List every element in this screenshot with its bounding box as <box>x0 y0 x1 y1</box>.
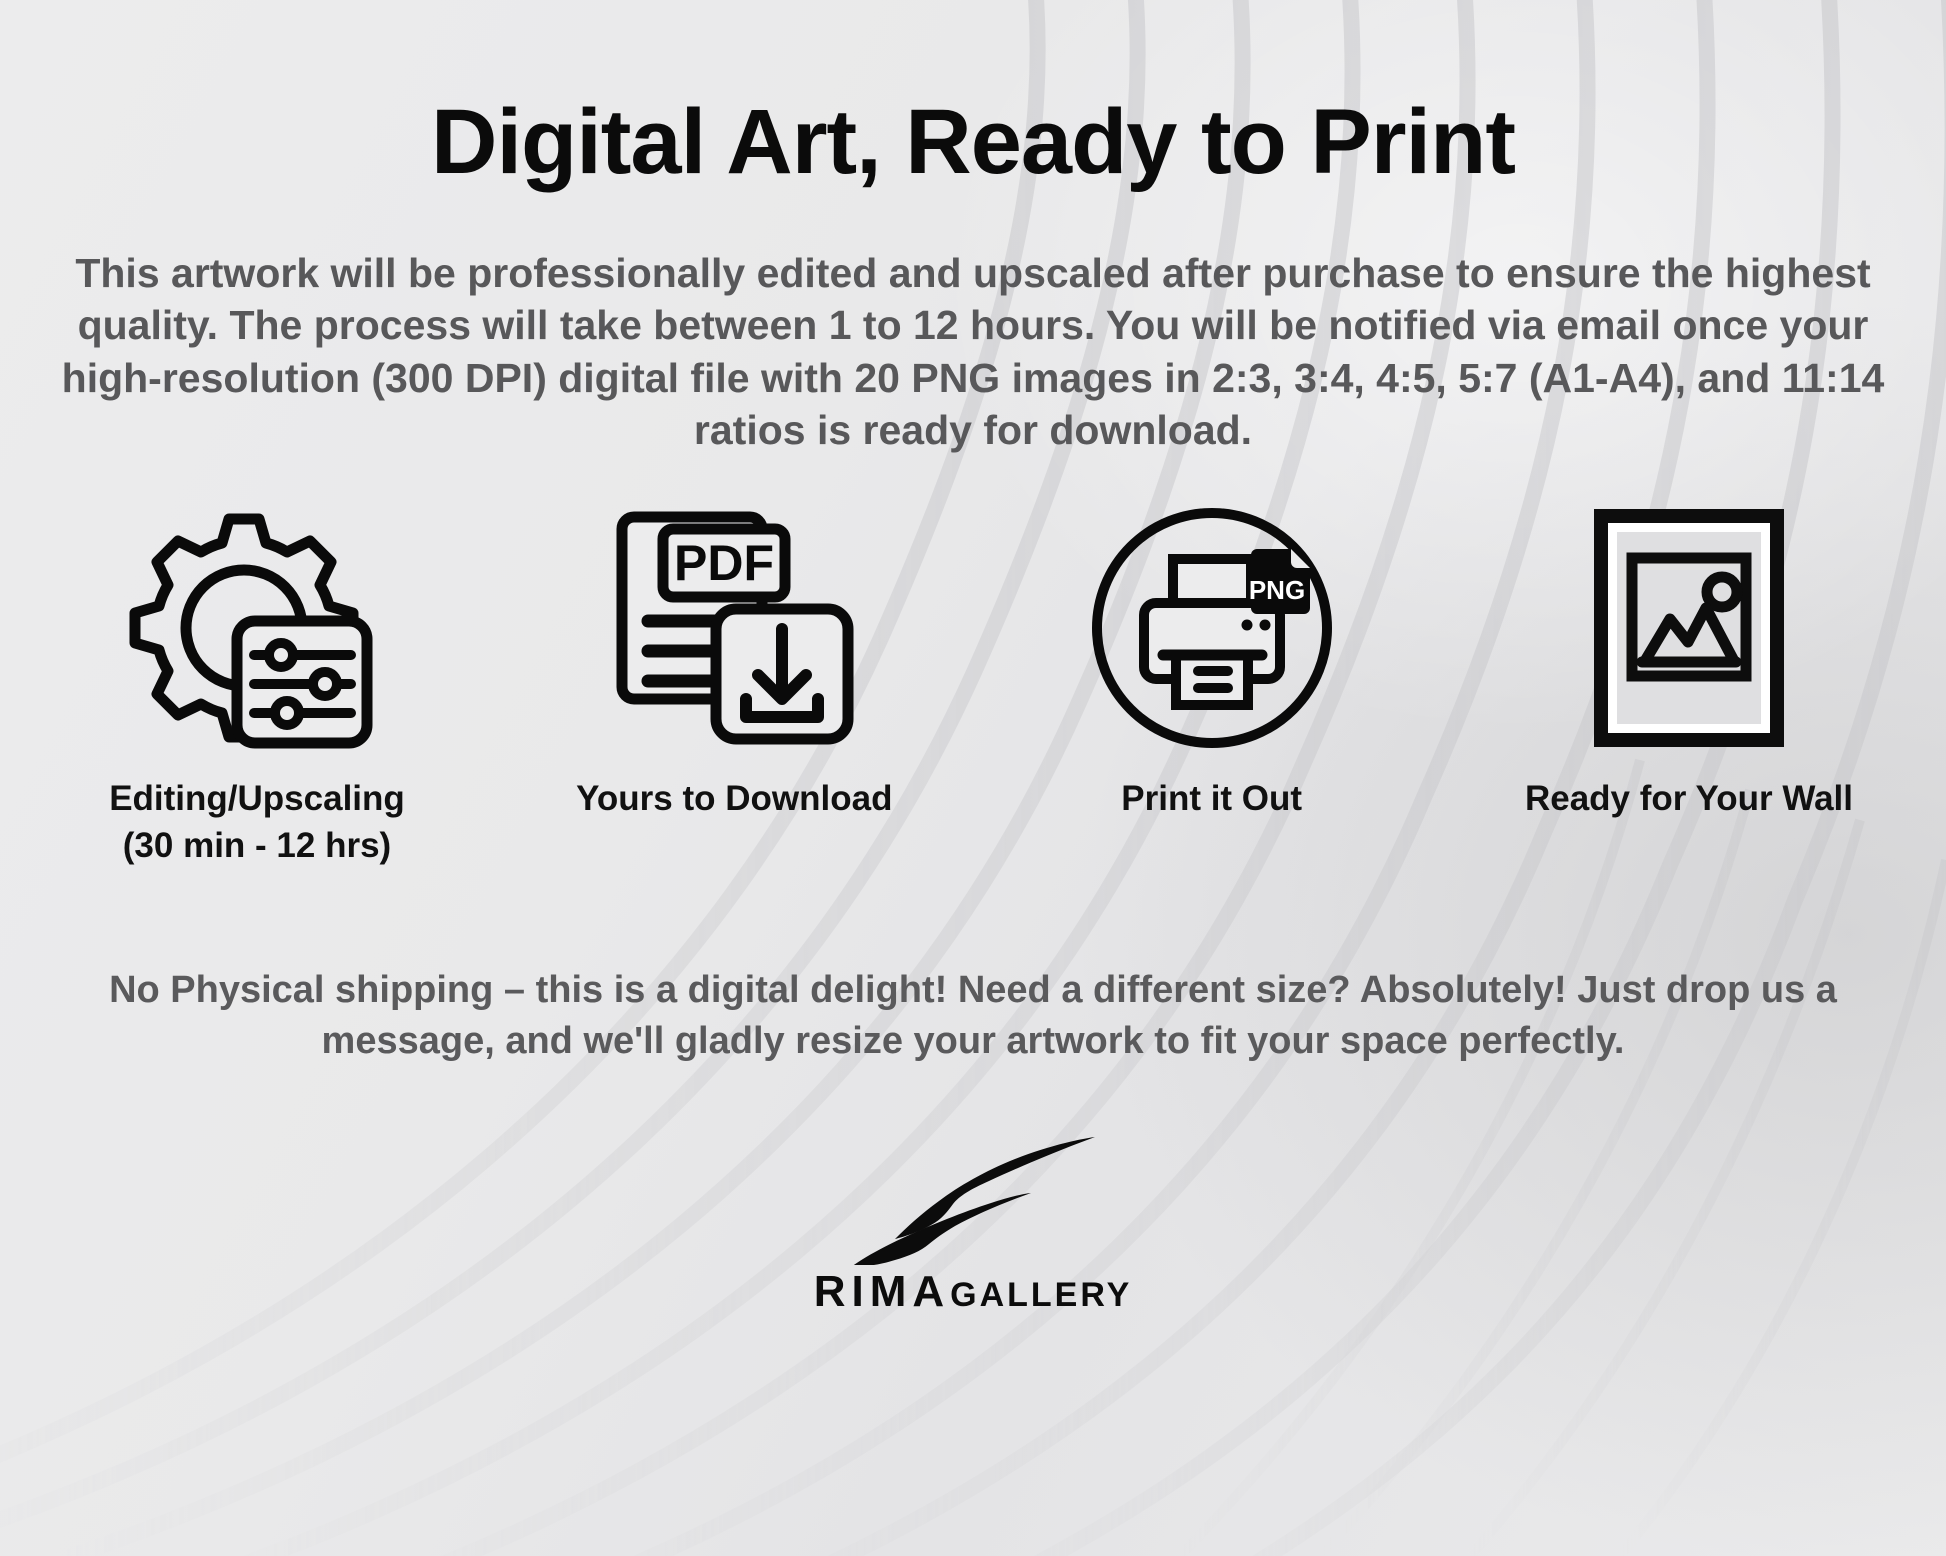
brand-secondary-text: GALLERY <box>950 1276 1132 1315</box>
feature-label: Ready for Your Wall <box>1525 776 1853 822</box>
feature-label: Editing/Upscaling (30 min - 12 hrs) <box>109 776 405 868</box>
pdf-badge-label: PDF <box>674 535 774 591</box>
content-wrapper: Digital Art, Ready to Print This artwork… <box>0 0 1946 1556</box>
feature-editing-upscaling: Editing/Upscaling (30 min - 12 hrs) <box>37 498 477 868</box>
rima-swoosh-logo-icon <box>843 1115 1103 1265</box>
feature-download: PDF Yours to Download <box>514 498 954 822</box>
page-title: Digital Art, Ready to Print <box>36 0 1910 191</box>
brand-wordmark: RIMA GALLERY <box>814 1267 1133 1317</box>
printer-circle-icon: PNG <box>1087 498 1337 758</box>
intro-paragraph: This artwork will be professionally edit… <box>38 191 1908 457</box>
feature-label: Yours to Download <box>576 776 892 822</box>
feature-row: Editing/Upscaling (30 min - 12 hrs) <box>37 456 1909 868</box>
feature-label: Print it Out <box>1121 776 1302 822</box>
gear-sliders-icon <box>129 498 385 758</box>
feature-wall: Ready for Your Wall <box>1469 498 1909 822</box>
promo-graphic: Digital Art, Ready to Print This artwork… <box>0 0 1946 1556</box>
pdf-download-icon: PDF <box>608 498 860 758</box>
brand-primary-text: RIMA <box>814 1267 950 1317</box>
png-badge-label: PNG <box>1248 575 1304 605</box>
feature-print: PNG Print it Out <box>992 498 1432 822</box>
brand-logo: RIMA GALLERY <box>36 1067 1910 1317</box>
shipping-note: No Physical shipping – this is a digital… <box>73 869 1873 1067</box>
framed-picture-icon <box>1584 498 1794 758</box>
